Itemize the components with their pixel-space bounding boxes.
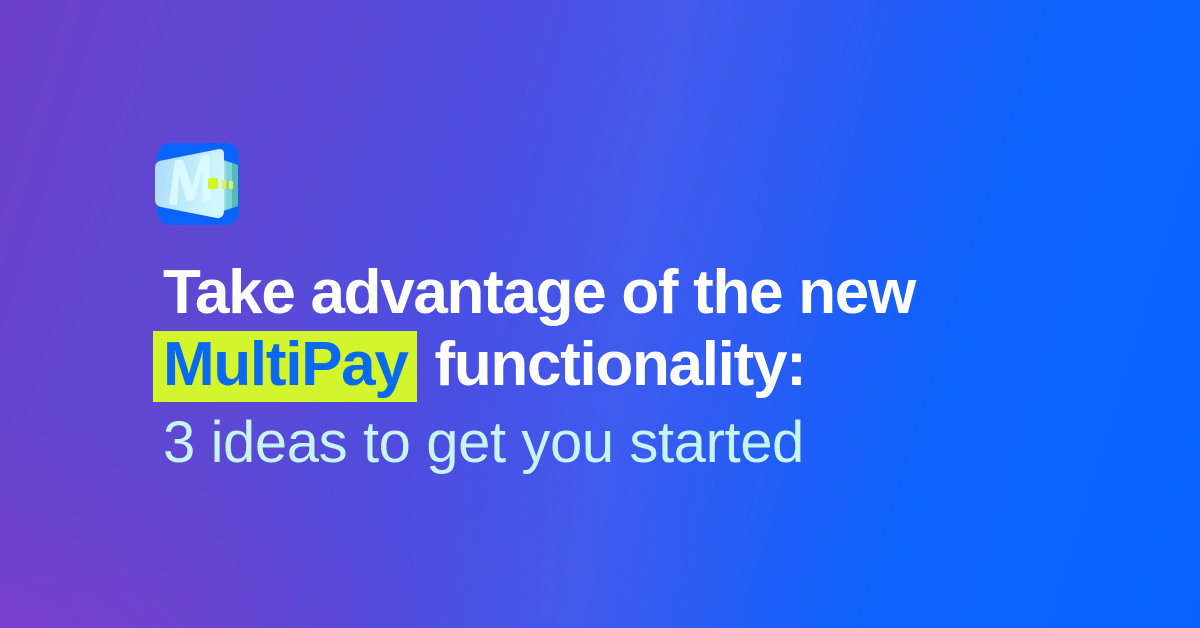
promo-banner: Take advantage of the new MultiPay funct…: [0, 0, 1200, 628]
stripe-two: [229, 181, 233, 189]
multipay-wallet-logo: [152, 138, 248, 230]
headline-line-2: MultiPay functionality:: [163, 330, 1163, 402]
stripe-one: [222, 180, 226, 189]
headline-line-1: Take advantage of the new: [163, 258, 1163, 328]
headline-line-2-rest: functionality:: [419, 330, 806, 399]
wallet-icon: [152, 138, 248, 230]
headline-line-3: 3 ideas to get you started: [163, 408, 1163, 478]
chip-icon: [208, 178, 218, 189]
banner-content: Take advantage of the new MultiPay funct…: [0, 0, 1200, 628]
multipay-highlight: MultiPay: [153, 331, 417, 402]
headline-block: Take advantage of the new MultiPay funct…: [163, 258, 1163, 478]
